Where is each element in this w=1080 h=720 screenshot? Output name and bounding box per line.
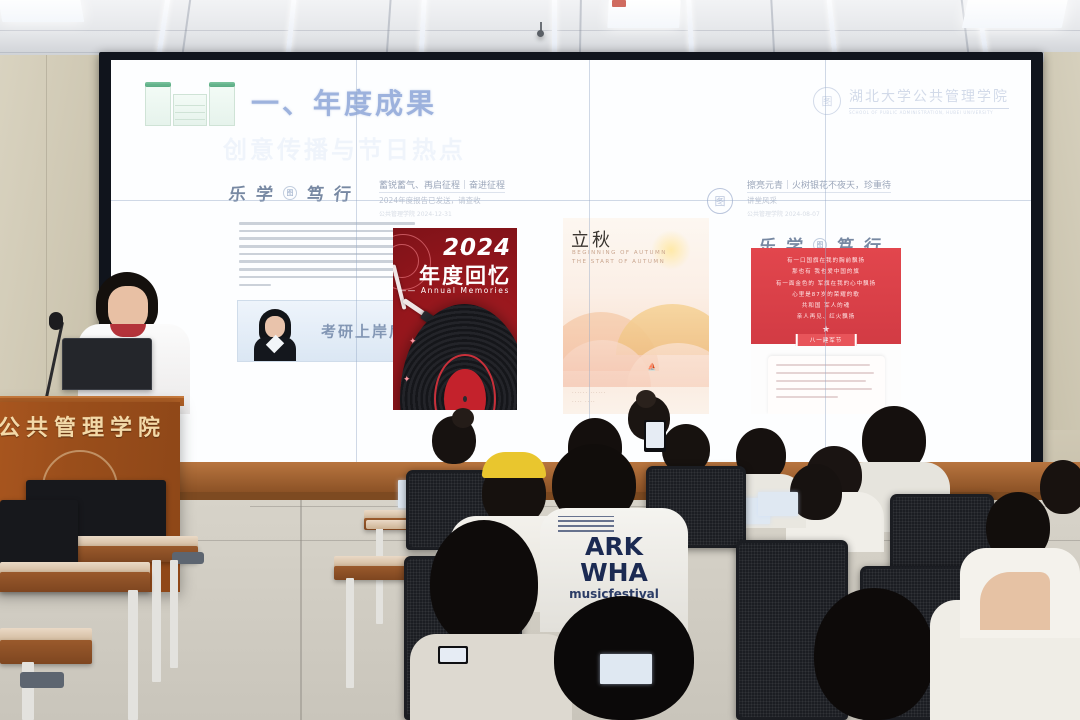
chair-seat[interactable] <box>20 672 64 688</box>
portrait-avatar <box>254 309 296 361</box>
boat-icon: ⛵ <box>648 363 657 371</box>
org-logo: 图 湖北大学公共管理学院 SCHOOL OF PUBLIC ADMINISTRA… <box>813 86 1009 115</box>
article-body-text <box>239 222 415 291</box>
poster-lines: 有一口国旗在我的胸前飘扬 那也有 我也爱中国的旗 有一面金色的 军旗在我的心中飘… <box>751 256 901 324</box>
poster-army-day[interactable]: 有一口国旗在我的胸前飘扬 那也有 我也爱中国的旗 有一面金色的 军旗在我的心中飘… <box>751 248 901 414</box>
hair-bun <box>452 408 474 428</box>
stacked-books-icon <box>145 82 237 126</box>
article-header-right[interactable]: 擦亮元青｜火树银花不夜天，珍重待 讲堂风采 公共管理学院 2024-08-07 <box>747 178 891 218</box>
shirt-graphic <box>558 516 614 532</box>
audience-head-foreground <box>430 520 538 646</box>
yellow-cap <box>482 452 546 478</box>
article-header-left[interactable]: 蓄锐蓄气、再启征程｜奋进征程 2024年度报告已发送，请查收 公共管理学院 20… <box>379 178 505 218</box>
ceiling-light-panel <box>962 0 1068 28</box>
shirt-text-line1: ARK <box>540 534 688 560</box>
poster-card-text <box>768 356 885 414</box>
panel-seam <box>111 200 1031 201</box>
lecture-hall-photo: 一、年度成果 创意传播与节日热点 图 湖北大学公共管理学院 SCHOOL OF … <box>0 0 1080 720</box>
article-seal-icon: 图 <box>707 188 733 214</box>
org-name: 湖北大学公共管理学院 <box>849 89 1009 105</box>
laptop-screen[interactable] <box>600 654 652 684</box>
desk <box>0 572 150 592</box>
vinyl-record-icon <box>400 304 517 410</box>
poster-pinyin: BEGINNING OF AUTUMN THE START OF AUTUMN <box>572 249 667 266</box>
laptop-screen[interactable] <box>758 492 798 516</box>
photo-card[interactable]: 考研上岸后 <box>237 300 417 362</box>
poster-subline: Annual Memories <box>399 286 510 295</box>
sprinkler-head <box>537 30 544 37</box>
poster-annual-memories[interactable]: ✦ ✦ · 2024 年度回忆 Annual Memories <box>393 228 517 410</box>
microphone-icon <box>49 312 63 330</box>
poster-banner: 八一建军节 <box>796 334 857 346</box>
audience-arm <box>980 572 1050 630</box>
poster-year: 2024 <box>443 235 511 261</box>
phone-screen <box>440 648 466 662</box>
audience-head <box>1040 460 1080 514</box>
ceiling-indicator <box>612 0 626 7</box>
panel-seam <box>825 60 826 472</box>
desk <box>0 640 92 664</box>
desk-monitor[interactable] <box>0 500 78 566</box>
audience-torso <box>410 634 572 720</box>
ceiling-light-panel <box>0 0 84 22</box>
org-english: SCHOOL OF PUBLIC ADMINISTRATION, HUBEI U… <box>849 108 1009 115</box>
right-wall <box>1044 52 1080 482</box>
panel-seam <box>589 60 590 472</box>
slide-title: 一、年度成果 <box>251 82 437 122</box>
poster-liqiu[interactable]: 立秋 BEGINNING OF AUTUMN THE START OF AUTU… <box>563 218 709 414</box>
org-seal-icon: 图 <box>813 87 841 115</box>
slide-subtitle: 创意传播与节日热点 <box>223 130 466 165</box>
audience-head-foreground <box>814 588 934 720</box>
panel-seam <box>356 60 357 472</box>
hair-bun <box>636 390 656 408</box>
presenter-laptop[interactable] <box>62 338 152 390</box>
podium-text: 公共管理学院 <box>0 410 166 442</box>
handwritten-logo-left: 乐学 图 笃行 <box>229 180 351 205</box>
phone-screen <box>646 422 664 448</box>
shirt-text-line2: WHA <box>540 560 688 586</box>
